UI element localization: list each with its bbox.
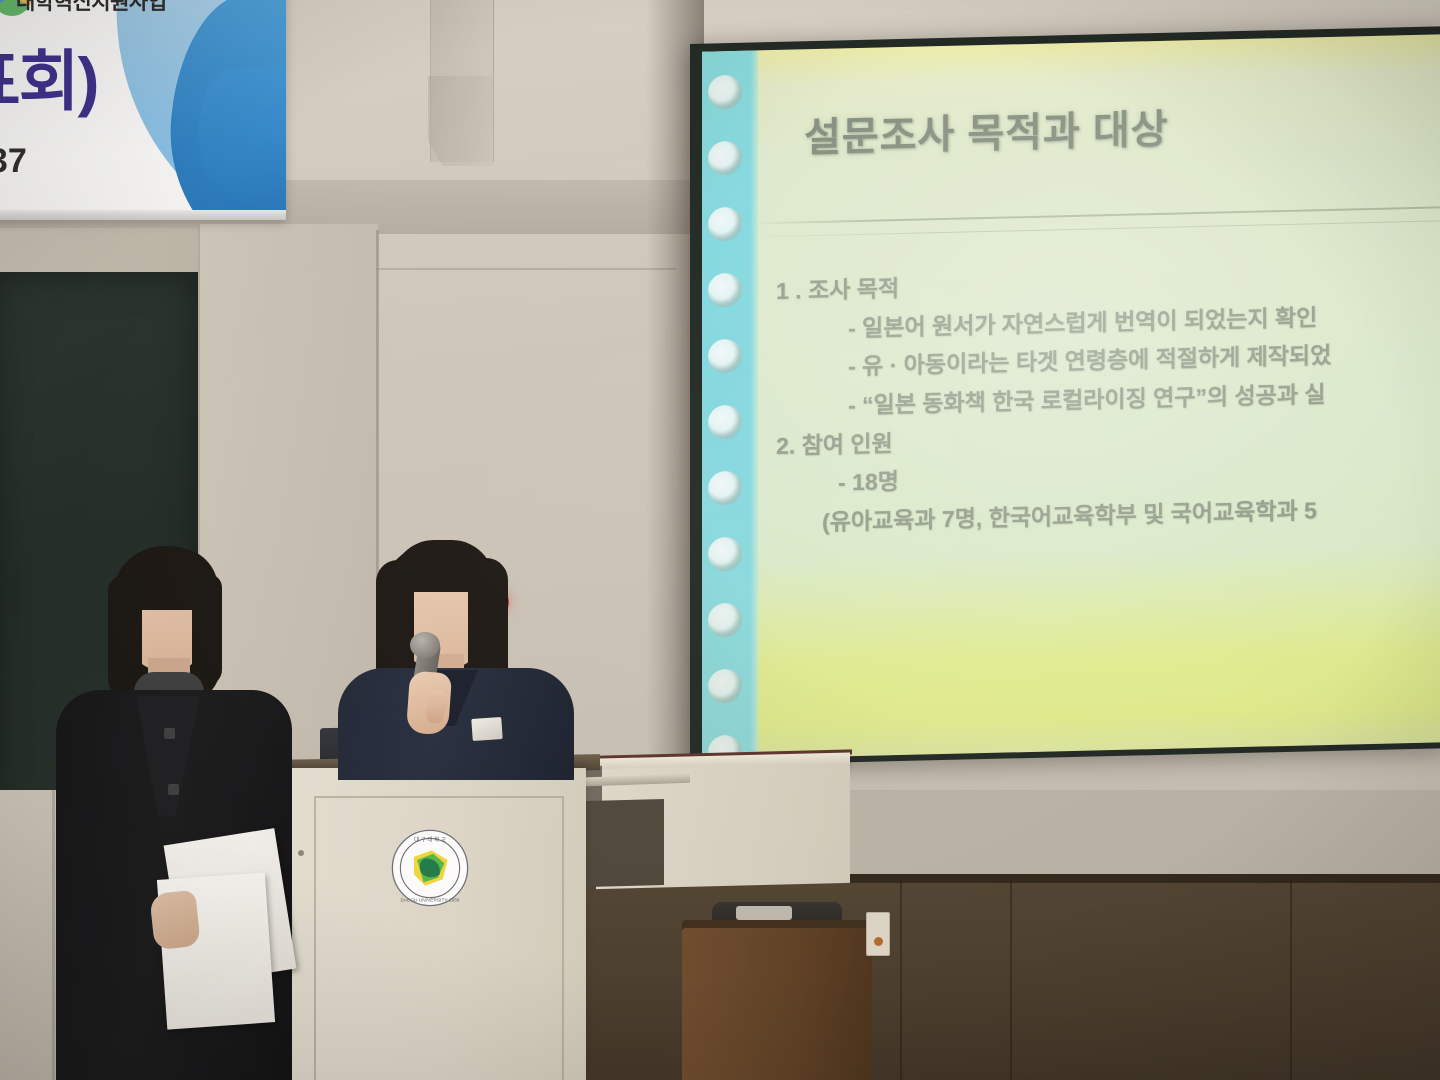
sprocket-hole-icon [708,75,742,110]
sprocket-hole-icon [708,471,742,506]
wall-duct-bevel [428,76,494,166]
name-badge [471,717,502,741]
banner-number-fragment: 437 [0,142,27,181]
slide-body-text: 1 . 조사 목적 - 일본어 원서가 자연스럽게 번역이 되었는지 확인 - … [776,255,1440,542]
coat-button [168,784,179,795]
hair-side-right [192,574,222,686]
podium-knob [298,850,304,856]
banner-title-fragment: 표회) [0,28,97,124]
wall-outlet [866,912,890,956]
svg-text:DAEGU UNIVERSITY 1956: DAEGU UNIVERSITY 1956 [400,898,459,904]
sprocket-hole-icon [708,339,742,374]
lectern-podium: 대 구 대 학 교 DAEGU UNIVERSITY 1956 [284,768,586,1080]
banner-bottom-edge [0,210,286,220]
banner-program-label: 대학혁신지원사업 [16,0,167,16]
wainscot-seam [1290,880,1292,1080]
sprocket-hole-icon [708,405,742,440]
slide-title-divider-secondary [760,220,1440,237]
wainscot-seam [1010,880,1012,1080]
sprocket-hole-icon [708,207,742,242]
wall-seam-horizontal [376,268,676,270]
slide-surface: 설문조사 목적과 대상 1 . 조사 목적 - 일본어 원서가 자연스럽게 번역… [702,34,1440,760]
slide-filmstrip-decoration [702,50,758,759]
slide-title: 설문조사 목적과 대상 [804,97,1168,164]
coat-button [164,728,175,739]
sprocket-hole-icon [708,273,742,308]
desk-recess [586,799,664,887]
presenter-speaking [336,540,586,780]
university-emblem-icon: 대 구 대 학 교 DAEGU UNIVERSITY 1956 [390,828,470,908]
sprocket-hole-icon [708,141,742,176]
event-banner: University Innovation 대학혁신지원사업 표회) 437 [0,0,286,220]
projection-screen: 설문조사 목적과 대상 1 . 조사 목적 - 일본어 원서가 자연스럽게 번역… [690,26,1440,766]
sprocket-hole-icon [708,603,742,638]
presentation-photo-scene: 설문조사 목적과 대상 1 . 조사 목적 - 일본어 원서가 자연스럽게 번역… [0,0,1440,1080]
paper-on-cabinet [736,906,792,920]
presenter-with-notes [56,540,296,1080]
sprocket-hole-icon [708,537,742,572]
outlet-indicator-icon [874,937,883,946]
slide-title-divider [760,206,1440,224]
wainscot-seam [900,880,902,1080]
lower-left-wall-seam [52,790,55,1080]
sprocket-hole-icon [708,669,742,704]
hand [149,890,201,951]
microphone-head-icon [410,632,440,658]
wooden-cabinet [682,928,872,1080]
